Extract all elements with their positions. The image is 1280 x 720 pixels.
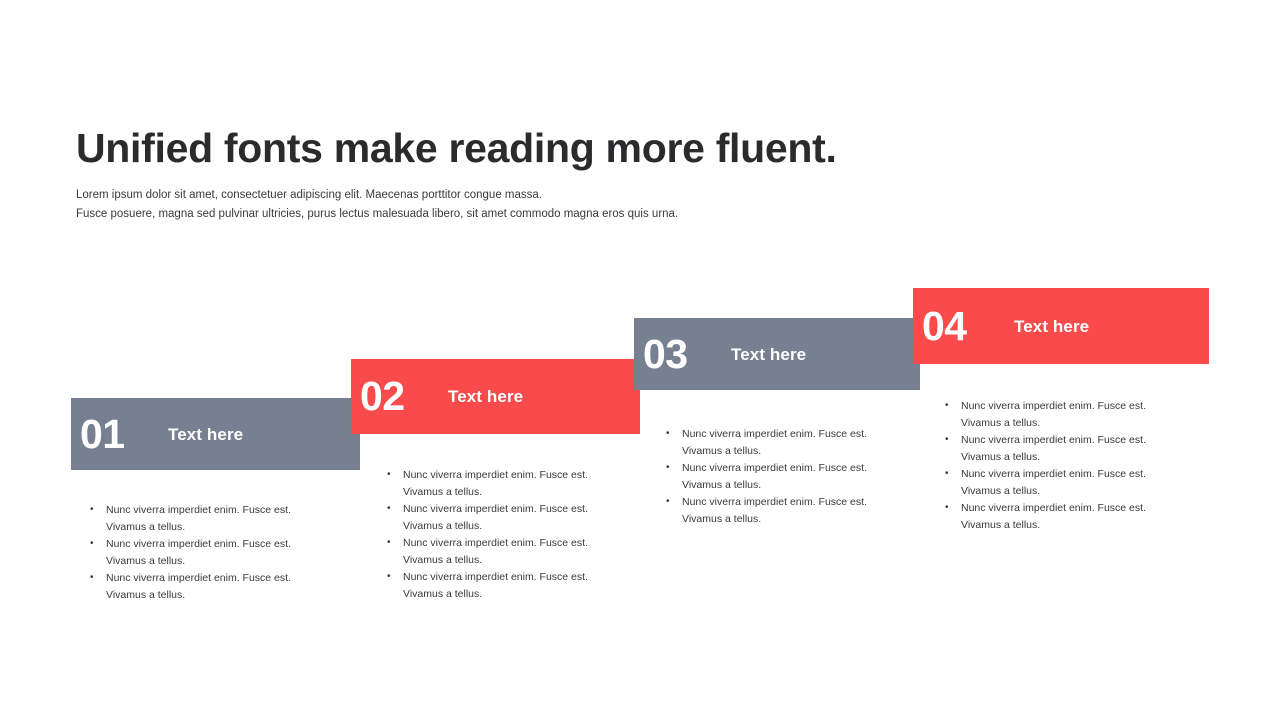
list-item: Nunc viverra imperdiet enim. Fusce est. … xyxy=(937,466,1185,500)
list-item: Nunc viverra imperdiet enim. Fusce est. … xyxy=(379,467,627,501)
list-item: Nunc viverra imperdiet enim. Fusce est. … xyxy=(937,398,1185,432)
list-item: Nunc viverra imperdiet enim. Fusce est. … xyxy=(82,536,330,570)
card-04-heading: Text here xyxy=(1014,318,1089,335)
card-03-bullet-list: Nunc viverra imperdiet enim. Fusce est. … xyxy=(658,426,906,528)
card-04-number: 04 xyxy=(922,306,1014,347)
card-04-header-band[interactable]: 04 Text here xyxy=(913,288,1209,364)
list-item: Nunc viverra imperdiet enim. Fusce est. … xyxy=(658,494,906,528)
list-item: Nunc viverra imperdiet enim. Fusce est. … xyxy=(937,500,1185,534)
slide-header: Unified fonts make reading more fluent. … xyxy=(76,124,1206,224)
card-03-header-band[interactable]: 03 Text here xyxy=(634,318,920,390)
list-item: Nunc viverra imperdiet enim. Fusce est. … xyxy=(658,460,906,494)
card-02-bullet-list: Nunc viverra imperdiet enim. Fusce est. … xyxy=(379,467,627,603)
card-02-number: 02 xyxy=(360,376,448,417)
list-item: Nunc viverra imperdiet enim. Fusce est. … xyxy=(658,426,906,460)
card-02-heading: Text here xyxy=(448,388,523,405)
list-item: Nunc viverra imperdiet enim. Fusce est. … xyxy=(379,535,627,569)
card-01-number: 01 xyxy=(80,414,168,455)
subtitle-line-1: Lorem ipsum dolor sit amet, consectetuer… xyxy=(76,186,1206,205)
page-title: Unified fonts make reading more fluent. xyxy=(76,124,1206,172)
card-04-bullet-list: Nunc viverra imperdiet enim. Fusce est. … xyxy=(937,398,1185,534)
slide-canvas: Unified fonts make reading more fluent. … xyxy=(0,0,1280,720)
subtitle-line-2: Fusce posuere, magna sed pulvinar ultric… xyxy=(76,205,1206,224)
list-item: Nunc viverra imperdiet enim. Fusce est. … xyxy=(379,501,627,535)
card-01-header-band[interactable]: 01 Text here xyxy=(71,398,360,470)
list-item: Nunc viverra imperdiet enim. Fusce est. … xyxy=(937,432,1185,466)
card-02-header-band[interactable]: 02 Text here xyxy=(351,359,640,434)
card-03-heading: Text here xyxy=(731,346,806,363)
list-item: Nunc viverra imperdiet enim. Fusce est. … xyxy=(379,569,627,603)
subtitle-block: Lorem ipsum dolor sit amet, consectetuer… xyxy=(76,186,1206,224)
list-item: Nunc viverra imperdiet enim. Fusce est. … xyxy=(82,570,330,604)
card-01-bullet-list: Nunc viverra imperdiet enim. Fusce est. … xyxy=(82,502,330,604)
card-01-heading: Text here xyxy=(168,426,243,443)
card-03-number: 03 xyxy=(643,334,731,375)
list-item: Nunc viverra imperdiet enim. Fusce est. … xyxy=(82,502,330,536)
